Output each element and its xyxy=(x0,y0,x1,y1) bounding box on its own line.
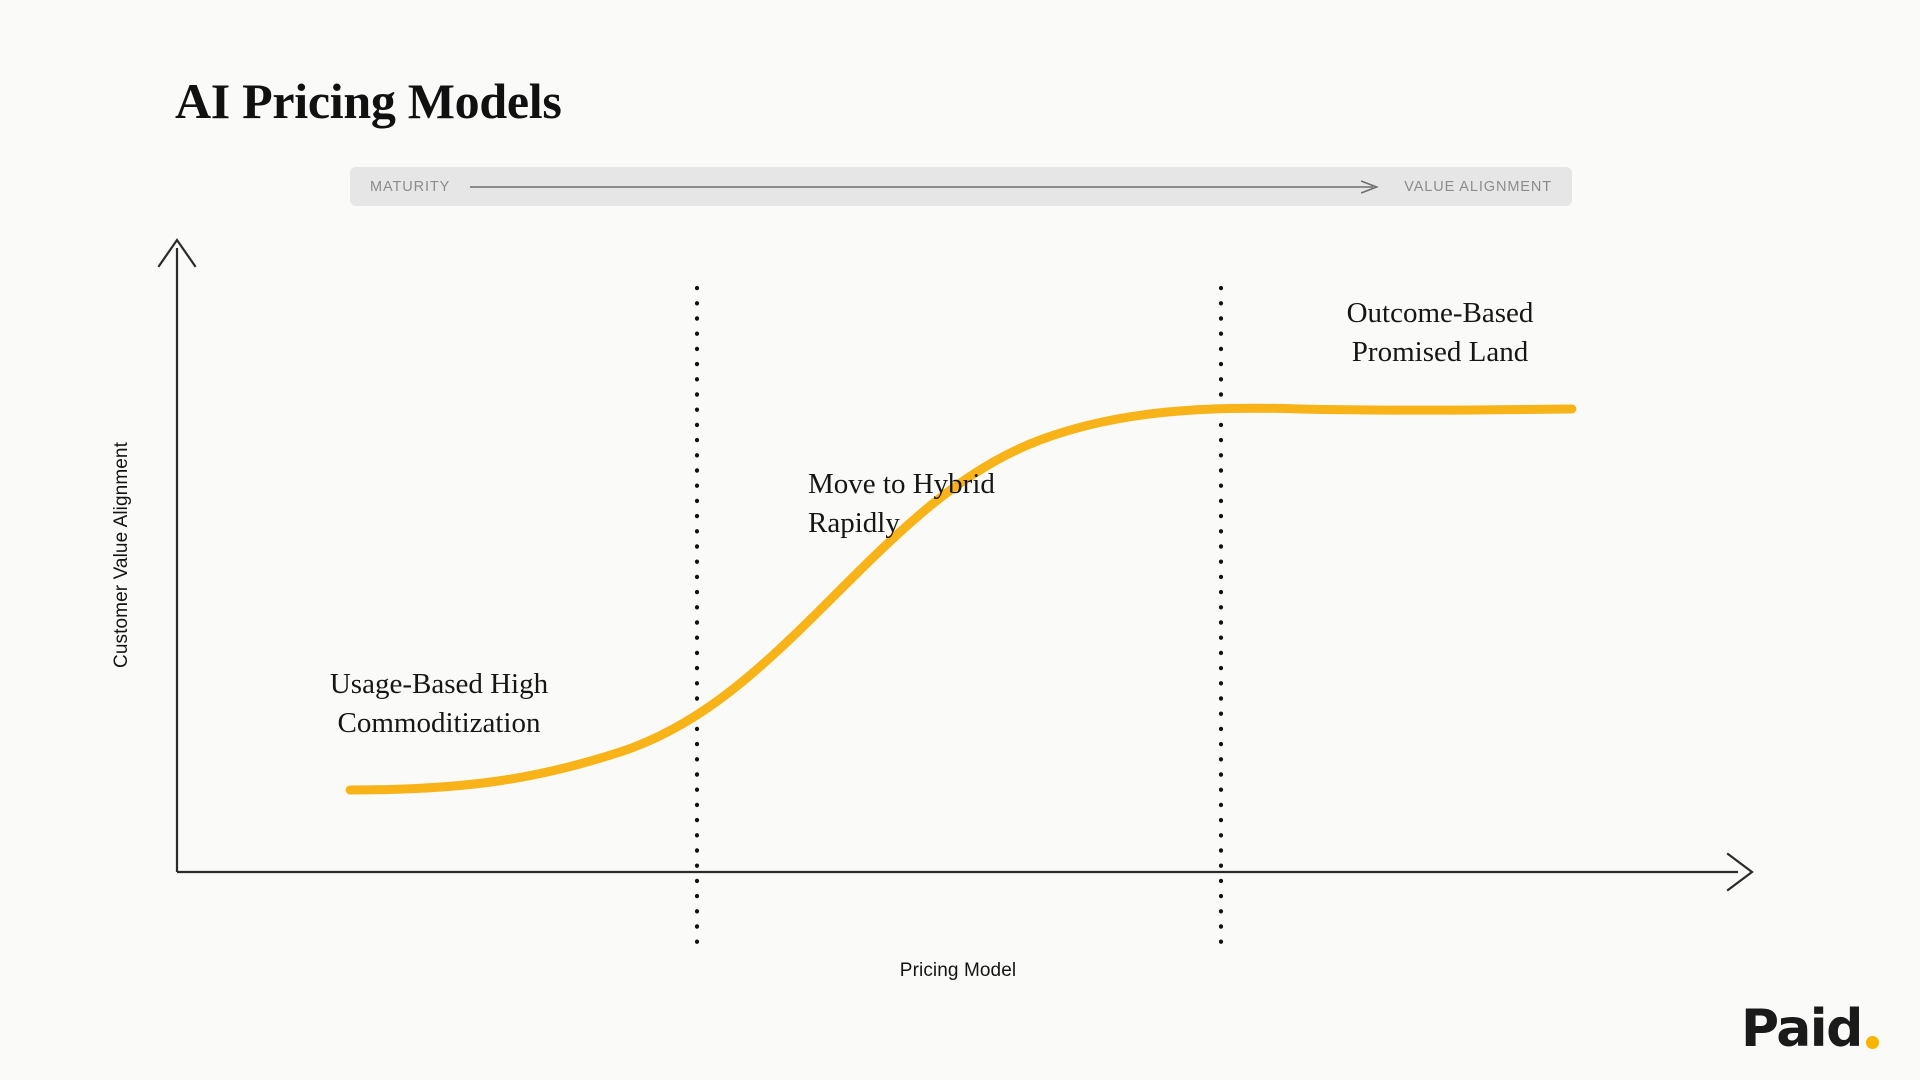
annotation-move-to-hybrid: Move to Hybrid Rapidly xyxy=(808,465,1108,543)
x-axis-title: Pricing Model xyxy=(900,960,1016,982)
value-alignment-label: VALUE ALIGNMENT xyxy=(1404,179,1552,195)
maturity-progression-bar: MATURITY VALUE ALIGNMENT xyxy=(350,167,1572,206)
y-axis-title: Customer Value Alignment xyxy=(111,442,133,668)
logo-dot-icon xyxy=(1866,1036,1879,1049)
slide-canvas: AI Pricing Models MATURITY VALUE ALIGNME… xyxy=(0,0,1920,1080)
annotation-usage-based: Usage-Based High Commoditization xyxy=(289,665,589,743)
maturity-label: MATURITY xyxy=(370,179,450,195)
annotation-outcome-based: Outcome-Based Promised Land xyxy=(1300,294,1580,372)
y-axis xyxy=(159,240,195,872)
x-axis xyxy=(177,854,1752,890)
paid-wordmark: Paid xyxy=(1741,1006,1862,1054)
page-title: AI Pricing Models xyxy=(175,72,562,130)
paid-logo: Paid xyxy=(1741,1006,1879,1054)
right-arrow-icon xyxy=(470,181,1384,193)
